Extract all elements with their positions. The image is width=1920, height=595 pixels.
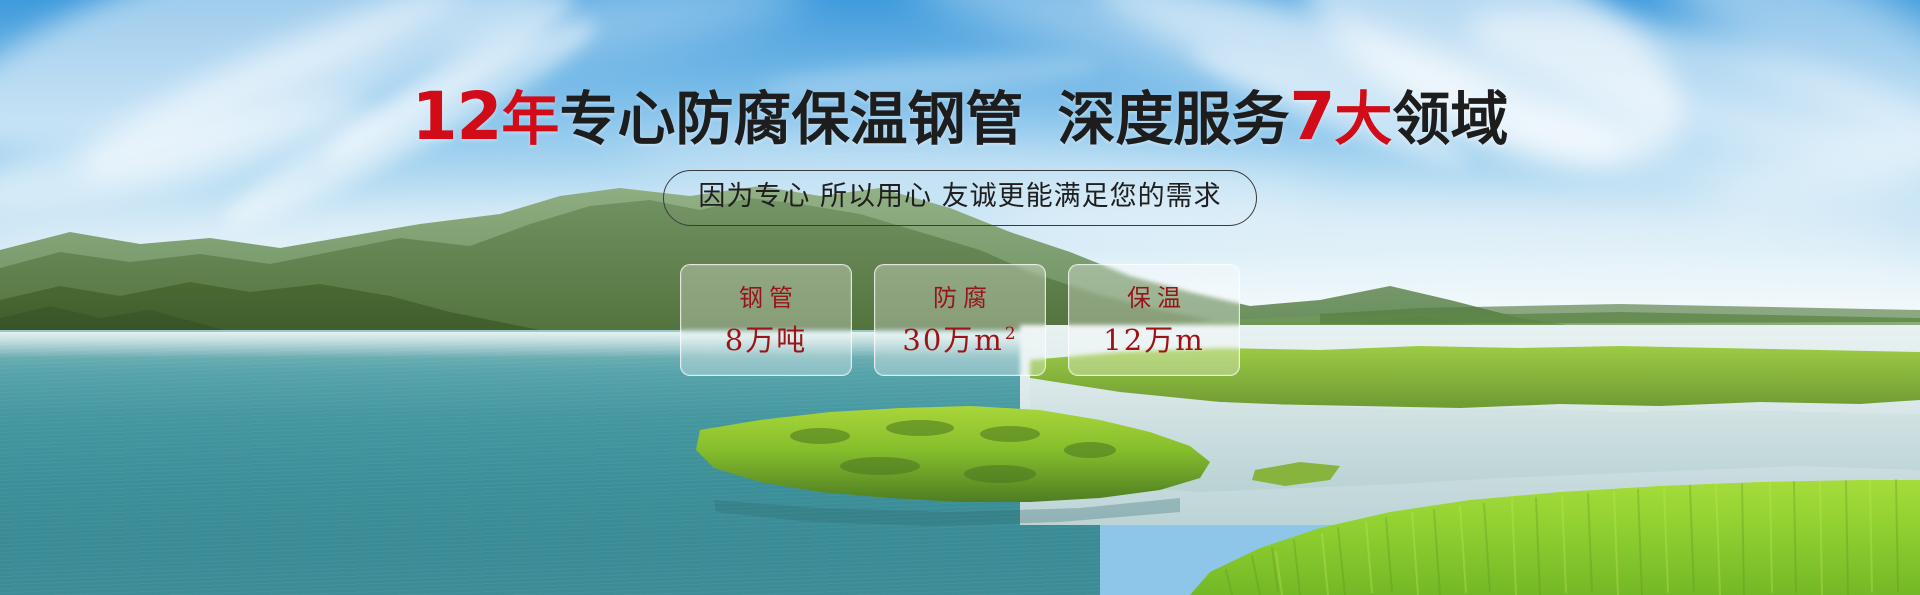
stat-card-value-main: 12万m: [1103, 325, 1204, 356]
stat-card-value: 12万m: [1103, 325, 1204, 356]
stat-card-title: 保温: [1121, 285, 1187, 311]
stat-card-group: 钢管 8万吨 防腐 30万m2 保温 12万m: [0, 264, 1920, 376]
headline: 12年专心防腐保温钢管深度服务7大领域: [0, 86, 1920, 150]
stat-card-steel-pipe: 钢管 8万吨: [680, 264, 852, 376]
stat-card-value-main: 8万吨: [725, 325, 807, 356]
stat-card-anticorrosion: 防腐 30万m2: [874, 264, 1046, 376]
headline-years-number: 12: [412, 78, 502, 155]
stat-card-title: 防腐: [927, 285, 993, 311]
subtitle-pill: 因为专心 所以用心 友诚更能满足您的需求: [663, 170, 1256, 226]
headline-service-phrase: 深度服务: [1057, 85, 1289, 153]
banner-content: 12年专心防腐保温钢管深度服务7大领域 因为专心 所以用心 友诚更能满足您的需求…: [0, 0, 1920, 595]
headline-years-unit: 年: [501, 85, 559, 153]
hero-banner: 12年专心防腐保温钢管深度服务7大领域 因为专心 所以用心 友诚更能满足您的需求…: [0, 0, 1920, 595]
stat-card-value-superscript: 2: [1005, 326, 1018, 343]
stat-card-value: 8万吨: [725, 325, 807, 356]
stat-card-insulation: 保温 12万m: [1068, 264, 1240, 376]
stat-card-title: 钢管: [733, 285, 799, 311]
headline-fields-suffix: 领域: [1392, 85, 1508, 153]
stat-card-value-main: 30万m: [902, 325, 1003, 356]
headline-fields-number: 7: [1289, 78, 1334, 155]
subtitle-container: 因为专心 所以用心 友诚更能满足您的需求: [0, 170, 1920, 226]
headline-fields-unit: 大: [1334, 85, 1392, 153]
stat-card-value: 30万m2: [902, 325, 1017, 356]
headline-main-phrase: 专心防腐保温钢管: [559, 85, 1023, 153]
